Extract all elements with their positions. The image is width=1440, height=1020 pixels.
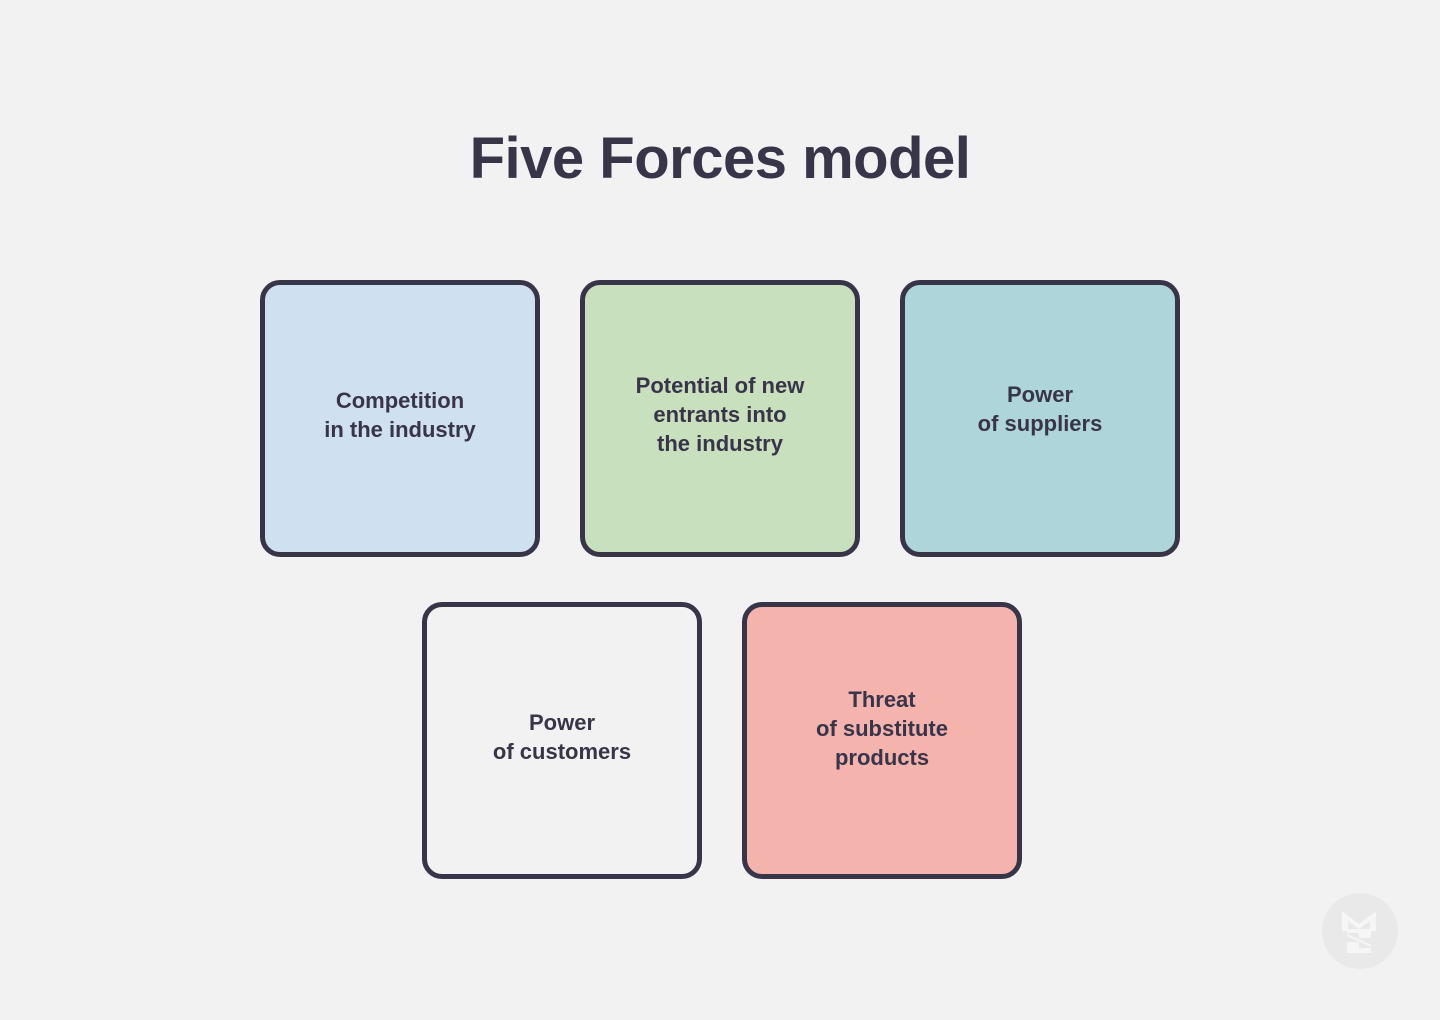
force-card-competition[interactable]: Competition in the industry bbox=[260, 280, 540, 557]
force-card-customers[interactable]: Power of customers bbox=[422, 602, 702, 879]
ms-monogram-logo-icon bbox=[1322, 893, 1398, 969]
slide-canvas: Five Forces model Competition in the ind… bbox=[0, 0, 1440, 1020]
force-card-label: Power of suppliers bbox=[905, 380, 1175, 438]
page-title: Five Forces model bbox=[0, 121, 1440, 197]
force-card-label: Power of customers bbox=[427, 708, 697, 766]
force-card-entrants[interactable]: Potential of new entrants into the indus… bbox=[580, 280, 860, 557]
force-card-label: Potential of new entrants into the indus… bbox=[585, 371, 855, 458]
force-card-suppliers[interactable]: Power of suppliers bbox=[900, 280, 1180, 557]
force-card-label: Competition in the industry bbox=[265, 386, 535, 444]
force-card-substitutes[interactable]: Threat of substitute products bbox=[742, 602, 1022, 879]
force-card-label: Threat of substitute products bbox=[747, 685, 1017, 772]
